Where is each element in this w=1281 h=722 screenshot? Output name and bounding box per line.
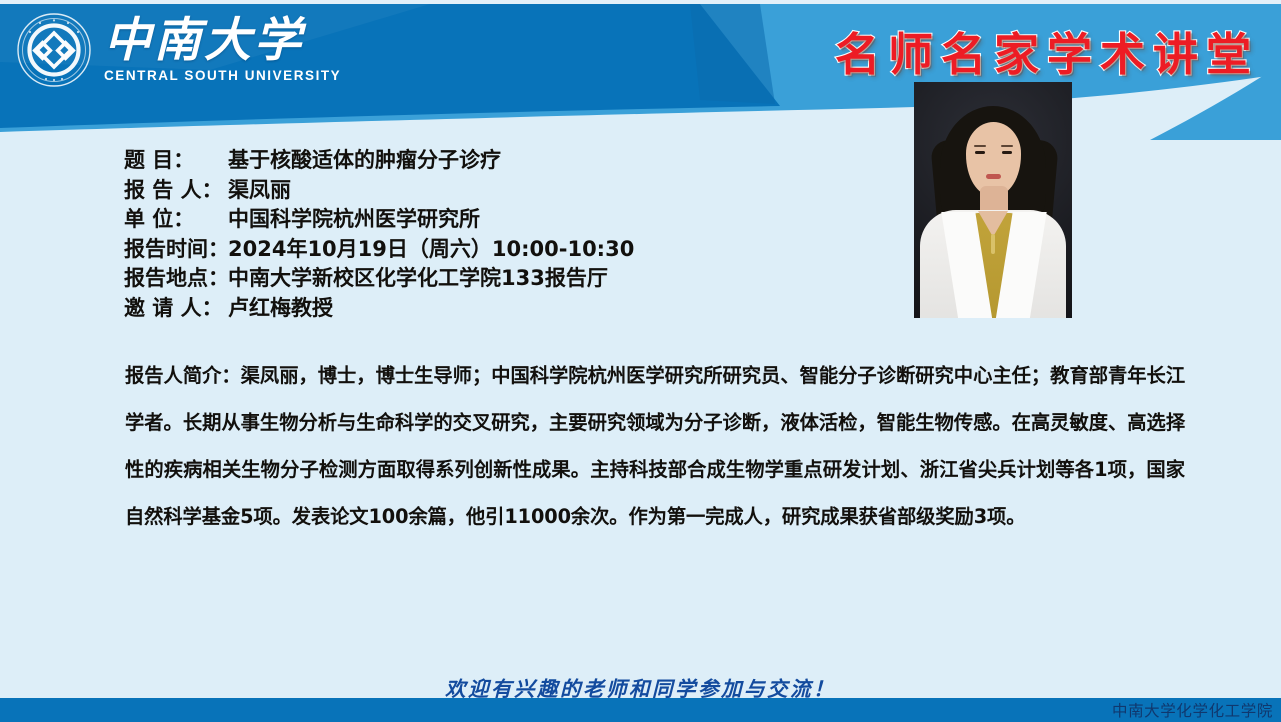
info-row-title: 题 目： 基于核酸适体的肿瘤分子诊疗 bbox=[124, 146, 634, 176]
portrait-mouth bbox=[986, 174, 1001, 179]
header-banner: 中南大学 CENTRAL SOUTH UNIVERSITY 名师名家学术讲堂 bbox=[0, 4, 1281, 140]
info-label-time: 报告时间： bbox=[124, 235, 228, 265]
info-value-venue: 中南大学新校区化学化工学院133报告厅 bbox=[228, 264, 608, 294]
speaker-biography: 报告人简介：渠凤丽，博士，博士生导师；中国科学院杭州医学研究所研究员、智能分子诊… bbox=[125, 352, 1185, 540]
info-label-host: 邀 请 人： bbox=[124, 294, 228, 324]
info-row-venue: 报告地点： 中南大学新校区化学化工学院133报告厅 bbox=[124, 264, 634, 294]
university-logo: 中南大学 CENTRAL SOUTH UNIVERSITY bbox=[16, 12, 341, 88]
info-label-speaker: 报 告 人： bbox=[124, 176, 228, 206]
info-value-title: 基于核酸适体的肿瘤分子诊疗 bbox=[228, 146, 501, 176]
talk-info-block: 题 目： 基于核酸适体的肿瘤分子诊疗 报 告 人： 渠凤丽 单 位： 中国科学院… bbox=[124, 146, 634, 323]
info-value-time: 2024年10月19日（周六）10:00-10:30 bbox=[228, 235, 634, 265]
footer-credit: 中南大学化学化工学院 bbox=[1112, 699, 1273, 721]
speaker-portrait bbox=[914, 82, 1072, 318]
portrait-eye-left bbox=[975, 151, 985, 154]
portrait-pendant bbox=[991, 234, 995, 254]
logo-english-name: CENTRAL SOUTH UNIVERSITY bbox=[104, 69, 341, 83]
logo-chinese-name: 中南大学 bbox=[104, 17, 304, 64]
seminar-poster: 中南大学 CENTRAL SOUTH UNIVERSITY 名师名家学术讲堂 题… bbox=[0, 0, 1281, 722]
university-seal-icon bbox=[16, 12, 92, 88]
info-label-affiliation: 单 位： bbox=[124, 205, 228, 235]
info-label-venue: 报告地点： bbox=[124, 264, 228, 294]
info-value-speaker: 渠凤丽 bbox=[228, 176, 291, 206]
portrait-eye-right bbox=[1002, 151, 1012, 154]
info-value-affiliation: 中国科学院杭州医学研究所 bbox=[228, 205, 480, 235]
info-row-time: 报告时间： 2024年10月19日（周六）10:00-10:30 bbox=[124, 235, 634, 265]
info-row-speaker: 报 告 人： 渠凤丽 bbox=[124, 176, 634, 206]
info-row-affiliation: 单 位： 中国科学院杭州医学研究所 bbox=[124, 205, 634, 235]
portrait-face bbox=[966, 122, 1021, 196]
info-value-host: 卢红梅教授 bbox=[228, 294, 333, 324]
banner-title: 名师名家学术讲堂 bbox=[835, 18, 1259, 83]
info-label-title: 题 目： bbox=[124, 146, 228, 176]
info-row-host: 邀 请 人： 卢红梅教授 bbox=[124, 294, 634, 324]
footer-bar bbox=[0, 698, 1281, 722]
